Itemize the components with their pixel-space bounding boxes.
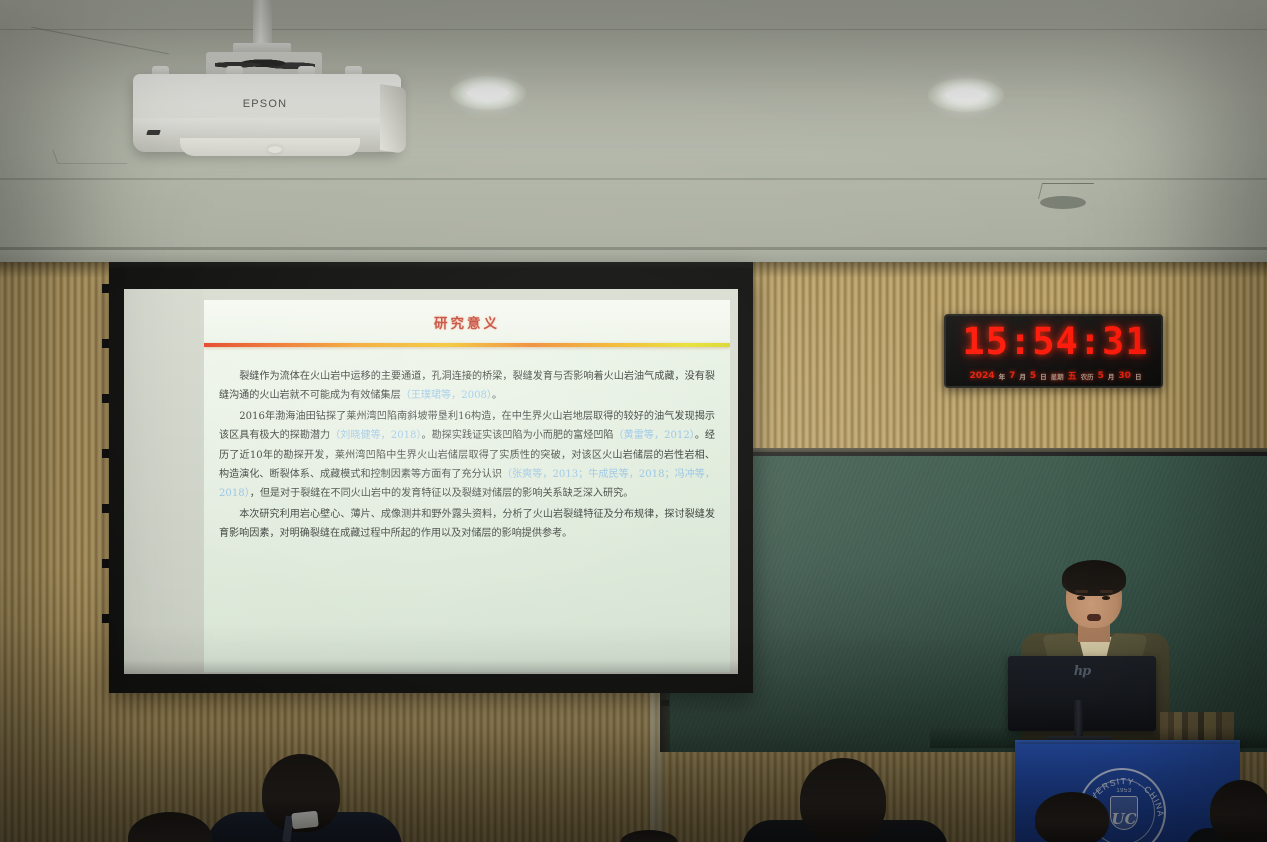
slide-paragraph: 2016年渤海油田钻探了莱州湾凹陷南斜坡带垦利16构造，在中生界火山岩地层取得的… xyxy=(219,407,715,504)
speaker-eye xyxy=(1102,596,1110,600)
slide-text: ，但是对于裂缝在不同火山岩中的发育特征以及裂缝对储层的影响关系缺乏深入研究。 xyxy=(250,488,634,499)
slide-citation: （王璞珺等，2008） xyxy=(401,390,492,401)
projector-vent-slot xyxy=(146,130,161,135)
projector-lens-icon xyxy=(268,146,282,153)
lecture-hall-scene: EPSON 研究意义 裂缝作为流体在火山岩中运移的主要通道，孔洞连接的桥梁，裂缝… xyxy=(0,0,1267,842)
clock-year-unit: 年 xyxy=(999,371,1006,381)
speaker-mouth xyxy=(1087,614,1101,621)
clock-month: 7 xyxy=(1009,371,1015,381)
slide-paragraph: 本次研究利用岩心壁心、薄片、成像测井和野外露头资料，分析了火山岩裂缝特征及分布规… xyxy=(219,505,715,544)
clock-lunar-label: 农历 xyxy=(1081,371,1094,381)
slide-header: 研究意义 xyxy=(204,300,730,343)
slide-text: 。 xyxy=(492,390,502,401)
slide-title: 研究意义 xyxy=(434,312,500,332)
ceiling-groove-upper xyxy=(0,178,1267,180)
ceiling-sensor-icon xyxy=(1040,196,1086,209)
clock-lunar-month: 5 xyxy=(1098,371,1104,381)
clock-month-unit: 月 xyxy=(1019,371,1026,381)
projector-brand-label: EPSON xyxy=(205,98,325,110)
speaker-brow xyxy=(1075,590,1088,593)
speaker-eye xyxy=(1077,596,1085,600)
audience-collar xyxy=(291,811,319,830)
chalkboard-clip xyxy=(661,700,669,706)
slide-citation: （黄雷等，2012） xyxy=(614,430,695,441)
projector-side-panel xyxy=(380,84,406,154)
digital-wall-clock: 15:54:31 2024 年 7 月 5 日 星期 五 农历 5 月 30 日 xyxy=(944,314,1163,388)
slide-body: 裂缝作为流体在火山岩中运移的主要通道，孔洞连接的桥梁，裂缝发育与否影响着火山岩油… xyxy=(204,347,730,553)
clock-weekday-label: 星期 xyxy=(1051,371,1064,381)
ceiling-seam-left xyxy=(31,27,169,55)
audience-member-head xyxy=(800,758,886,842)
clock-day: 5 xyxy=(1030,371,1036,381)
clock-time-display: 15:54:31 xyxy=(946,319,1165,363)
slide-paragraph: 裂缝作为流体在火山岩中运移的主要通道，孔洞连接的桥梁，裂缝发育与否影响着火山岩油… xyxy=(219,367,715,406)
clock-lunar-day-unit: 日 xyxy=(1135,371,1142,381)
clock-lunar-month-unit: 月 xyxy=(1108,371,1115,381)
audience-member-head xyxy=(1035,792,1109,842)
audience-member-head xyxy=(1210,780,1267,842)
clock-year: 2024 xyxy=(970,371,995,381)
speaker-brow xyxy=(1100,590,1113,593)
ceiling-soffit xyxy=(0,0,1267,30)
hp-logo-icon: hp xyxy=(1074,664,1091,679)
speaker-hair xyxy=(1062,560,1126,596)
seal-year: 1953 xyxy=(1080,788,1168,794)
screen-bottom-shadow xyxy=(124,660,738,674)
clock-day-unit: 日 xyxy=(1040,371,1047,381)
slide-text: 本次研究利用岩心壁心、薄片、成像测井和野外露头资料，分析了火山岩裂缝特征及分布规… xyxy=(219,509,715,539)
slide-divider-rule xyxy=(204,343,730,347)
slide-text: 。勘探实践证实该凹陷为小而肥的富烃凹陷 xyxy=(422,430,614,441)
projection-screen-surface: 研究意义 裂缝作为流体在火山岩中运移的主要通道，孔洞连接的桥梁，裂缝发育与否影响… xyxy=(124,289,738,674)
ceiling-downlight-left xyxy=(450,76,526,110)
ceiling-downlight-right xyxy=(928,78,1004,112)
slide-citation: （刘晓健等，2018） xyxy=(330,430,421,441)
screen-unlit-margin xyxy=(124,289,204,674)
clock-weekday: 五 xyxy=(1068,369,1077,382)
clock-lunar-day: 30 xyxy=(1118,371,1131,381)
projector-mount-pole xyxy=(253,0,272,46)
clock-date-display: 2024 年 7 月 5 日 星期 五 农历 5 月 30 日 xyxy=(946,365,1165,386)
presentation-slide: 研究意义 裂缝作为流体在火山岩中运移的主要通道，孔洞连接的桥梁，裂缝发育与否影响… xyxy=(204,300,730,672)
ceiling-seam-corner xyxy=(52,150,127,164)
